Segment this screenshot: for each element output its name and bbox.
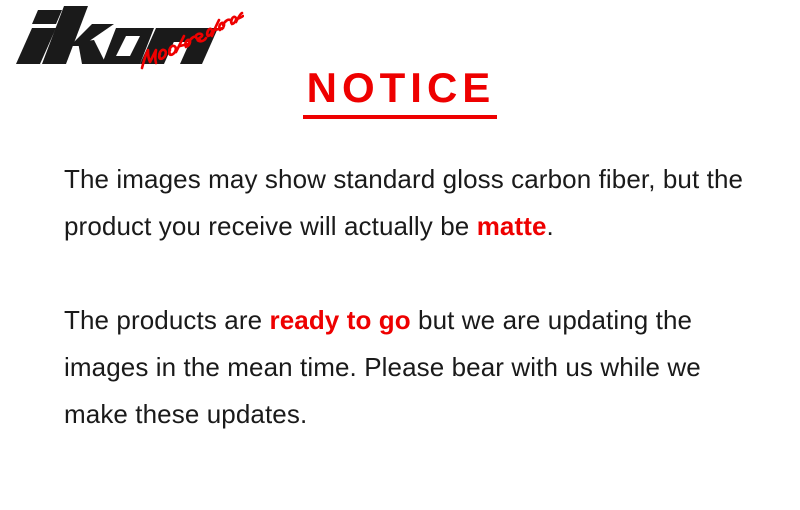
notice-paragraph-2: The products are ready to go but we are …: [64, 297, 764, 438]
paragraph-1-text-after: .: [547, 211, 554, 241]
paragraph-2-text-before: The products are: [64, 305, 269, 335]
notice-banner: NOTICE The images may show standard glos…: [0, 0, 800, 510]
notice-heading-container: NOTICE: [0, 64, 800, 119]
paragraph-1-emphasis: matte: [477, 211, 547, 241]
ikon-wordmark-glyphs: [16, 6, 218, 64]
notice-body: The images may show standard gloss carbo…: [64, 156, 764, 438]
paragraph-2-emphasis: ready to go: [269, 305, 410, 335]
notice-paragraph-1: The images may show standard gloss carbo…: [64, 156, 764, 250]
page-title: NOTICE: [303, 64, 498, 119]
paragraph-1-text-before: The images may show standard gloss carbo…: [64, 164, 743, 241]
